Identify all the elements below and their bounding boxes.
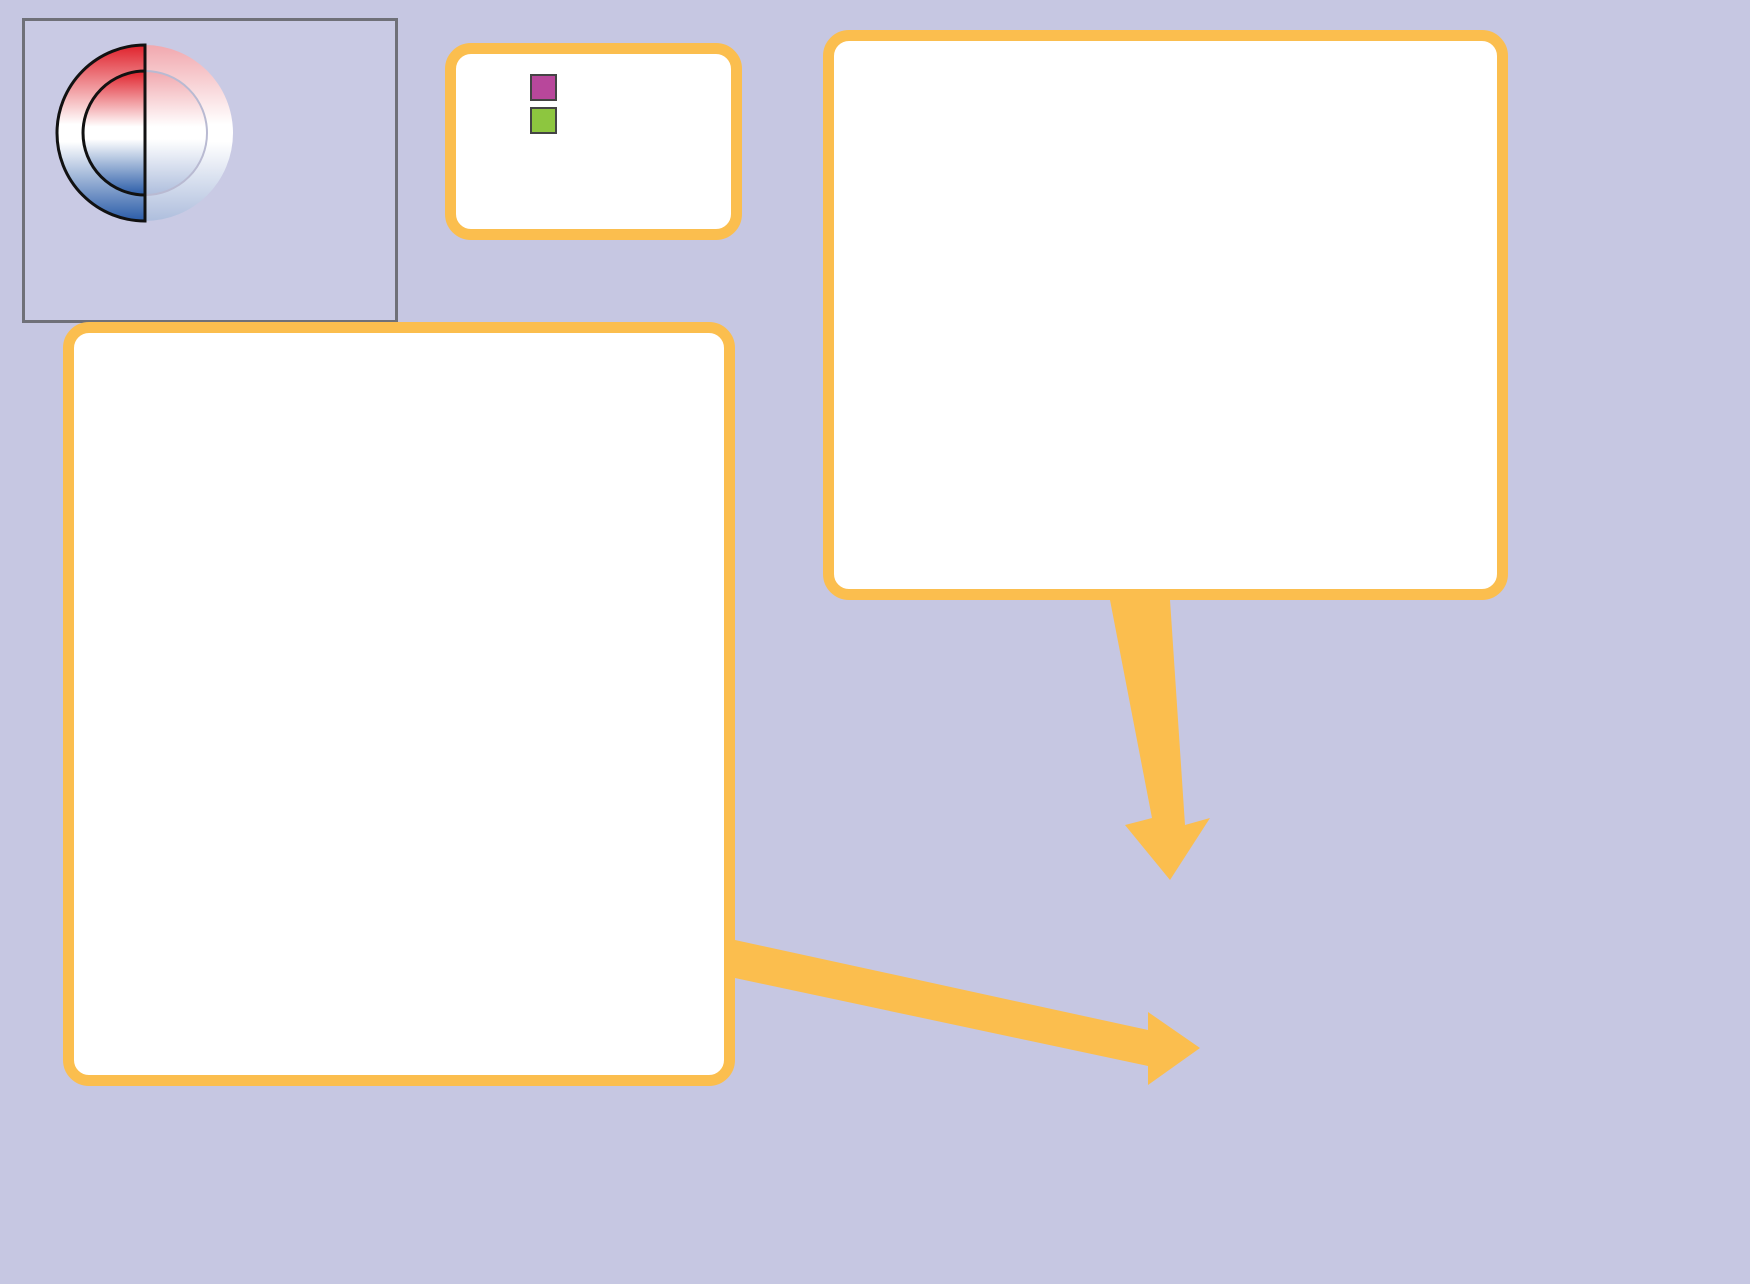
color-scale-rings [55,33,235,233]
replication-fork-panel [823,30,1508,600]
protein-network-diagram [790,600,1750,1279]
apc-panel [63,322,735,1086]
network-svg [790,600,1750,1279]
down-swatch [530,107,557,134]
apc-heatmap [113,351,685,909]
up-swatch [530,74,557,101]
legend-item-down [456,107,731,134]
legend-item-up [456,74,731,101]
color-scale-legend [22,18,398,323]
updown-legend-panel [445,43,742,240]
replication-fork-condition-bar [882,443,1450,458]
replication-fork-time-bar [882,465,1450,475]
replication-fork-heatmap [882,55,1450,431]
apc-time-bar [113,943,685,953]
apc-condition-bar [113,921,685,936]
